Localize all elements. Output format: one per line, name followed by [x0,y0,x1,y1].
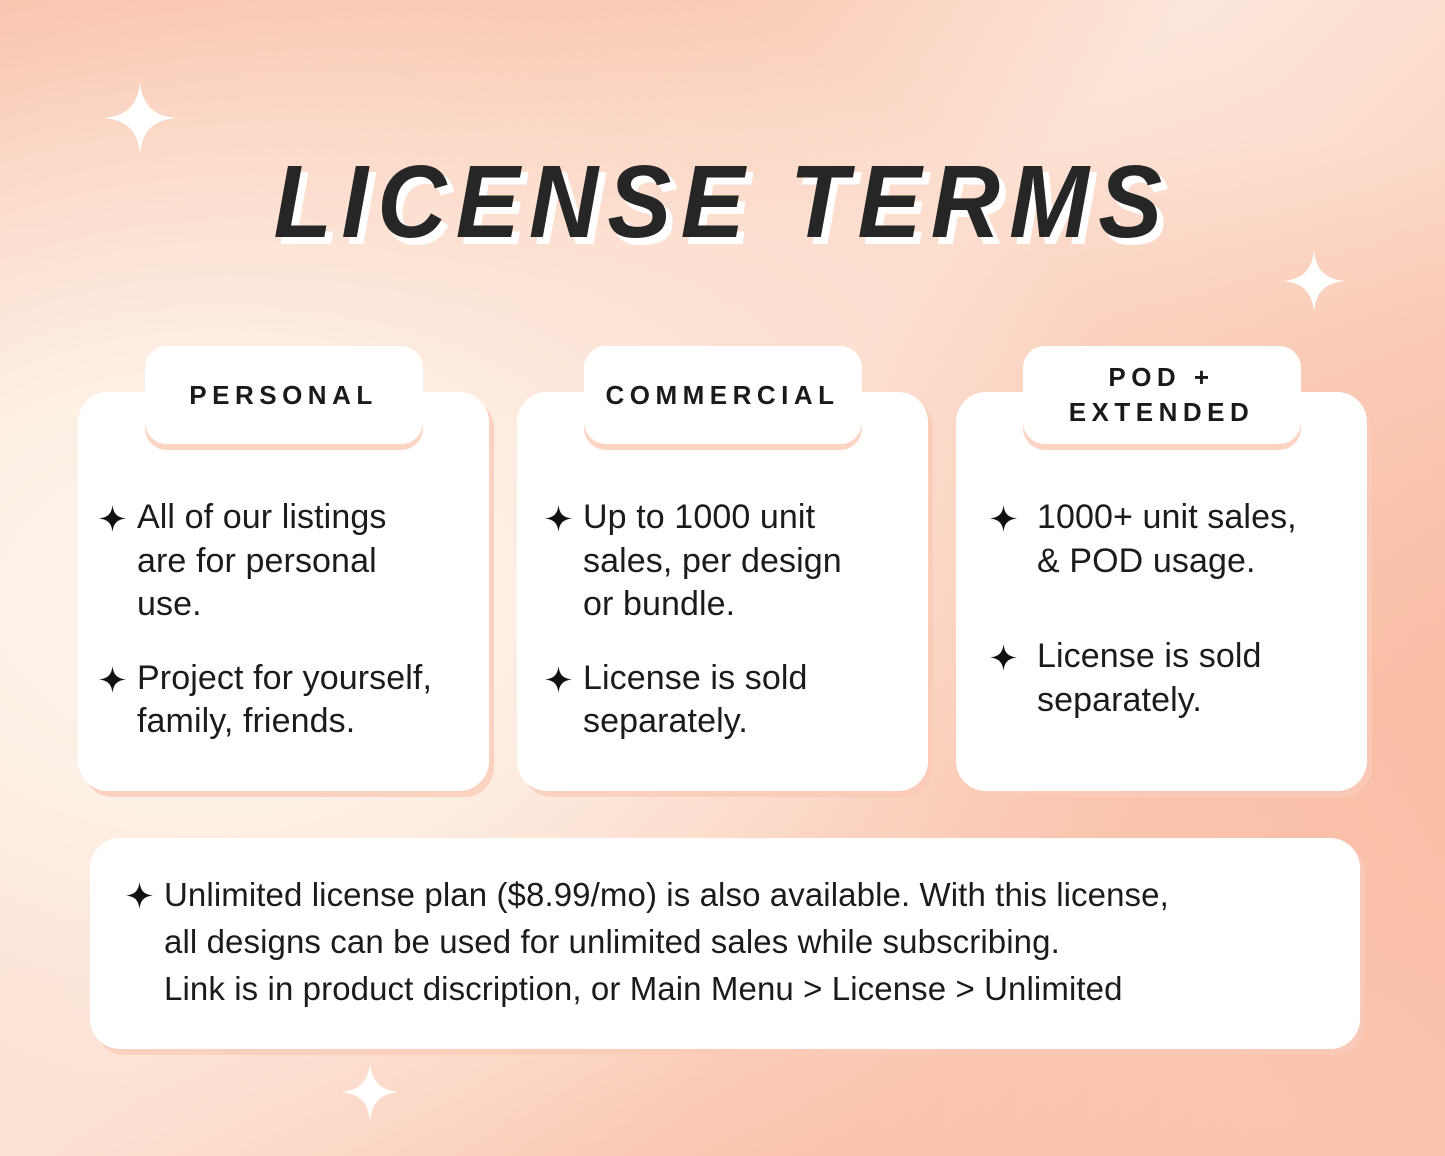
sparkle-bullet-icon [990,505,1017,532]
card-body-personal: All of our listings are for personal use… [78,392,489,791]
unlimited-plan-banner: Unlimited license plan ($8.99/mo) is als… [90,838,1360,1049]
sparkle-bullet-icon [545,505,572,532]
list-item: License is sold separately. [545,657,904,744]
list-item-text: 1000+ unit sales, & POD usage. [1037,496,1297,583]
list-item: Unlimited license plan ($8.99/mo) is als… [126,872,1320,1013]
card-header-personal: PERSONAL [145,346,423,444]
list-item-text: Up to 1000 unit sales, per design or bun… [583,496,842,627]
sparkle-bullet-icon [99,666,126,693]
list-item: All of our listings are for personal use… [99,496,465,627]
bullet-list: Up to 1000 unit sales, per design or bun… [545,496,904,744]
sparkle-bullet-icon [990,644,1017,671]
license-card-personal: PERSONAL All of our listings are for per… [78,346,489,791]
list-item: Project for yourself, family, friends. [99,657,465,744]
card-header-pod-extended: POD + EXTENDED [1023,346,1301,444]
card-header-commercial: COMMERCIAL [584,346,862,444]
sparkle-bullet-icon [99,505,126,532]
list-item-text: All of our listings are for personal use… [137,496,386,627]
card-body-pod-extended: 1000+ unit sales, & POD usage. License i… [956,392,1367,791]
list-item-text: License is sold separately. [1037,635,1262,722]
page-title: LICENSE TERMS [51,143,1395,261]
sparkle-bullet-icon [126,882,153,909]
bullet-list: All of our listings are for personal use… [99,496,465,744]
license-card-pod-extended: POD + EXTENDED 1000+ unit sales, & POD u… [956,346,1367,791]
list-item: Up to 1000 unit sales, per design or bun… [545,496,904,627]
sparkle-icon [341,1063,399,1121]
card-heading-label: POD + EXTENDED [1069,360,1255,430]
list-item: 1000+ unit sales, & POD usage. [990,496,1343,583]
license-card-commercial: COMMERCIAL Up to 1000 unit sales, per de… [517,346,928,791]
card-heading-label: PERSONAL [189,378,377,413]
banner-text: Unlimited license plan ($8.99/mo) is als… [164,872,1169,1013]
sparkle-bullet-icon [545,666,572,693]
list-item-text: License is sold separately. [583,657,808,744]
card-heading-label: COMMERCIAL [605,378,839,413]
license-tier-cards: PERSONAL All of our listings are for per… [78,346,1367,791]
card-body-commercial: Up to 1000 unit sales, per design or bun… [517,392,928,791]
list-item-text: Project for yourself, family, friends. [137,657,432,744]
bullet-list: 1000+ unit sales, & POD usage. License i… [990,496,1343,722]
list-item: License is sold separately. [990,635,1343,722]
